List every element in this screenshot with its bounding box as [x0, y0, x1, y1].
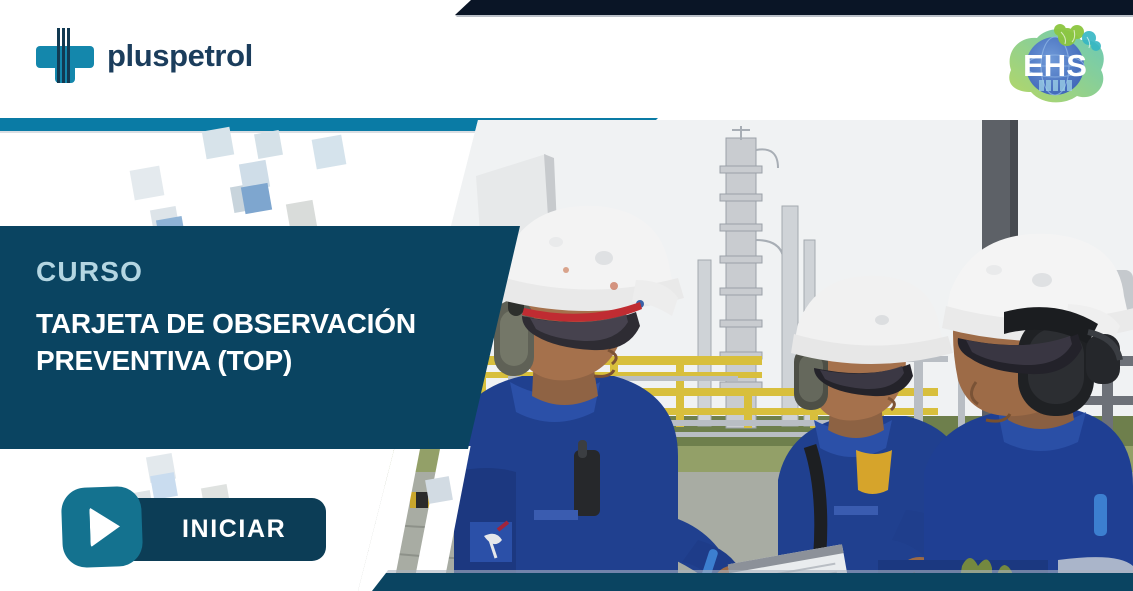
footer-bar	[372, 573, 1133, 591]
play-triangle-icon	[89, 506, 120, 547]
ehs-logo: EHS	[997, 18, 1115, 108]
course-title: TARJETA DE OBSERVACIÓN PREVENTIVA (TOP)	[36, 306, 520, 380]
cross-stripe-1	[57, 28, 60, 83]
cross-stripe-3	[67, 28, 70, 83]
decorative-square	[202, 127, 234, 159]
decorative-square	[254, 130, 283, 159]
top-dark-accent-band	[455, 0, 1133, 15]
course-title-line-1: TARJETA DE OBSERVACIÓN	[36, 306, 520, 343]
top-dark-accent-band-shadow	[455, 15, 1133, 17]
start-button[interactable]: INICIAR	[120, 498, 326, 561]
course-splash-screen: pluspetrol	[0, 0, 1133, 591]
start-course-control[interactable]: INICIAR	[62, 495, 326, 563]
course-kicker-label: CURSO	[36, 258, 520, 286]
ehs-label: EHS	[1023, 48, 1087, 83]
footer-bar-shadow	[372, 570, 1133, 573]
cross-stripe-2	[62, 28, 65, 83]
course-title-card: CURSO TARJETA DE OBSERVACIÓN PREVENTIVA …	[0, 226, 520, 449]
decorative-square	[241, 183, 272, 214]
play-button-badge[interactable]	[61, 486, 144, 569]
decorative-square	[130, 166, 165, 201]
course-title-line-2: PREVENTIVA (TOP)	[36, 343, 520, 380]
decorative-square	[425, 476, 453, 504]
pluspetrol-wordmark: pluspetrol	[107, 38, 253, 74]
pluspetrol-logo[interactable]: pluspetrol	[36, 28, 253, 83]
decorative-square	[312, 135, 347, 170]
pluspetrol-cross-mark-icon	[36, 28, 94, 83]
